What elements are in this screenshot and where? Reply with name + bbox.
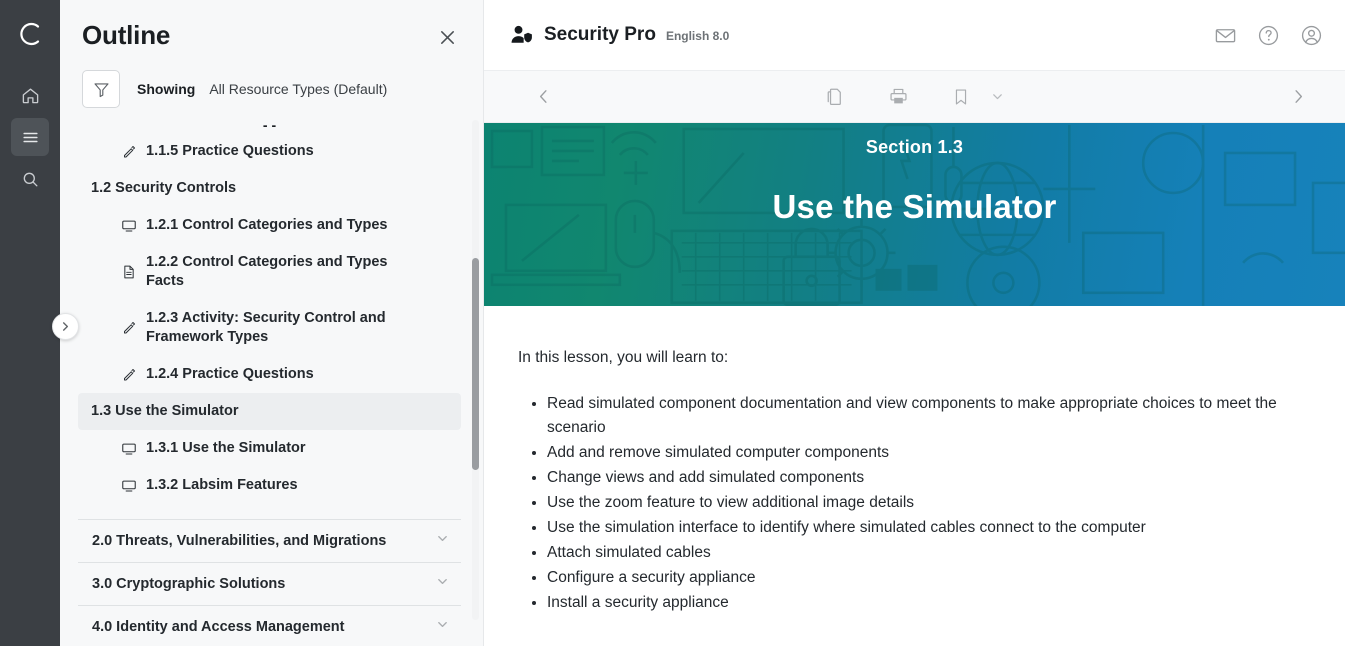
- list-item-label: 1.3.1 Use the Simulator: [146, 439, 306, 458]
- list-item-label: 1.2.2 Control Categories and Types Facts: [146, 253, 408, 291]
- pencil-edit-icon: [120, 367, 138, 382]
- bookmark-button[interactable]: [951, 87, 971, 107]
- search-icon: [21, 170, 40, 189]
- toolbar-center-actions: [825, 86, 1004, 107]
- list-item: Add and remove simulated computer compon…: [547, 440, 1307, 465]
- chevron-down-icon: [991, 90, 1004, 103]
- lesson-intro: In this lesson, you will learn to:: [518, 348, 1345, 368]
- outline-section-1-3[interactable]: 1.3 Use the Simulator: [78, 393, 461, 430]
- brand-name: Security Pro: [544, 24, 656, 46]
- monitor-icon: [120, 441, 138, 457]
- close-icon: [438, 28, 457, 47]
- lesson-body: In this lesson, you will learn to: Read …: [484, 306, 1345, 646]
- home-icon: [21, 86, 40, 105]
- next-page-button[interactable]: [1281, 80, 1315, 114]
- chapter-row-2[interactable]: 2.0 Threats, Vulnerabilities, and Migrat…: [78, 520, 461, 563]
- print-button[interactable]: [888, 86, 909, 107]
- banner-title: Use the Simulator: [773, 188, 1057, 226]
- list-item-label: 1.2 Security Controls: [91, 180, 236, 196]
- close-outline-button[interactable]: [434, 24, 461, 56]
- chapter-row-3[interactable]: 3.0 Cryptographic Solutions: [78, 563, 461, 606]
- filter-showing-label: Showing: [137, 81, 195, 97]
- list-item-label: 1.2.1 Control Categories and Types: [146, 216, 387, 235]
- bookmark-icon: [951, 87, 971, 107]
- chapter-row-4[interactable]: 4.0 Identity and Access Management: [78, 606, 461, 646]
- hamburger-menu-icon: [21, 128, 40, 147]
- question-circle-icon[interactable]: [1257, 24, 1280, 47]
- list-item: Install a security appliance: [547, 590, 1307, 615]
- sidebar-item-search[interactable]: [11, 160, 49, 198]
- sidebar-item-outline[interactable]: [11, 118, 49, 156]
- main-content: Security Pro English 8.0: [484, 0, 1345, 646]
- funnel-filter-icon: [92, 80, 111, 99]
- chevron-down-icon[interactable]: [436, 532, 449, 550]
- list-item-label: 1.2.3 Activity: Security Control and Fra…: [146, 309, 408, 347]
- printer-icon: [888, 86, 909, 107]
- document-icon: [120, 265, 138, 280]
- filter-button[interactable]: [82, 70, 120, 108]
- chapter-label: 3.0 Cryptographic Solutions: [92, 576, 285, 592]
- list-item[interactable]: 1.3.1 Use the Simulator: [78, 430, 461, 467]
- chapter-label: 2.0 Threats, Vulnerabilities, and Migrat…: [92, 533, 386, 549]
- chevron-right-icon: [60, 321, 71, 332]
- page-title: Outline: [82, 22, 170, 48]
- filter-row: Showing All Resource Types (Default): [60, 56, 483, 118]
- list-item[interactable]: 1.2.4 Practice Questions: [78, 356, 461, 393]
- lesson-banner: Section 1.3 Use the Simulator: [484, 123, 1345, 306]
- list-item: Attach simulated cables: [547, 540, 1307, 565]
- outline-panel: Outline Showing All Resource Types (Defa…: [60, 0, 484, 646]
- chapter-list: 2.0 Threats, Vulnerabilities, and Migrat…: [78, 519, 461, 646]
- list-item-label: 1.2.4 Practice Questions: [146, 365, 314, 384]
- outline-scrollbar-thumb[interactable]: [472, 258, 479, 470]
- brand-version: English 8.0: [666, 29, 729, 43]
- pencil-edit-icon: [120, 321, 138, 336]
- outline-section-1-2[interactable]: 1.2 Security Controls: [78, 170, 461, 207]
- pencil-edit-icon: [120, 144, 138, 159]
- circle-c-logo-icon[interactable]: [10, 14, 50, 54]
- lesson-objectives-list: Read simulated component documentation a…: [518, 391, 1345, 615]
- chevron-left-icon: [535, 88, 552, 105]
- filter-value[interactable]: All Resource Types (Default): [209, 81, 387, 97]
- list-item[interactable]: 1.2.3 Activity: Security Control and Fra…: [78, 300, 461, 356]
- list-item[interactable]: 1.3.2 Labsim Features: [78, 467, 461, 504]
- user-shield-icon: [510, 24, 534, 46]
- panel-expand-toggle[interactable]: [52, 313, 79, 340]
- list-item[interactable]: 1.1.5 Practice Questions: [78, 133, 461, 170]
- brand: Security Pro English 8.0: [510, 24, 729, 46]
- copy-pages-icon: [825, 86, 846, 107]
- list-item: Use the simulation interface to identify…: [547, 515, 1307, 540]
- outline-header: Outline: [60, 0, 483, 56]
- left-nav-rail: [0, 0, 60, 646]
- header-actions: [1214, 24, 1323, 47]
- list-item-label: 1.3 Use the Simulator: [91, 403, 238, 419]
- banner-section-label: Section 1.3: [866, 137, 963, 158]
- list-item: Use the zoom feature to view additional …: [547, 490, 1307, 515]
- monitor-icon: [120, 218, 138, 234]
- chevron-right-icon: [1290, 88, 1307, 105]
- list-item: Read simulated component documentation a…: [547, 391, 1307, 440]
- envelope-icon[interactable]: [1214, 24, 1237, 47]
- chevron-down-icon[interactable]: [436, 575, 449, 593]
- bookmark-dropdown-toggle[interactable]: [991, 90, 1004, 103]
- chapter-label: 4.0 Identity and Access Management: [92, 619, 345, 635]
- content-toolbar: [484, 71, 1345, 123]
- chevron-down-icon[interactable]: [436, 618, 449, 636]
- list-item: Change views and add simulated component…: [547, 465, 1307, 490]
- copy-pages-button[interactable]: [825, 86, 846, 107]
- outline-tree: - - 1.1.5 Practice Questions 1.2 Securit…: [60, 118, 483, 646]
- sidebar-item-home[interactable]: [11, 76, 49, 114]
- list-item: Configure a security appliance: [547, 565, 1307, 590]
- list-item[interactable]: 1.2.2 Control Categories and Types Facts: [78, 244, 461, 300]
- list-item[interactable]: 1.2.1 Control Categories and Types: [78, 207, 461, 244]
- outline-item-clipped: - -: [78, 120, 461, 133]
- app-root: Outline Showing All Resource Types (Defa…: [0, 0, 1345, 646]
- app-header: Security Pro English 8.0: [484, 0, 1345, 71]
- user-circle-icon[interactable]: [1300, 24, 1323, 47]
- monitor-icon: [120, 478, 138, 494]
- previous-page-button[interactable]: [526, 80, 560, 114]
- list-item-label: 1.1.5 Practice Questions: [146, 142, 314, 161]
- list-item-label: 1.3.2 Labsim Features: [146, 476, 298, 495]
